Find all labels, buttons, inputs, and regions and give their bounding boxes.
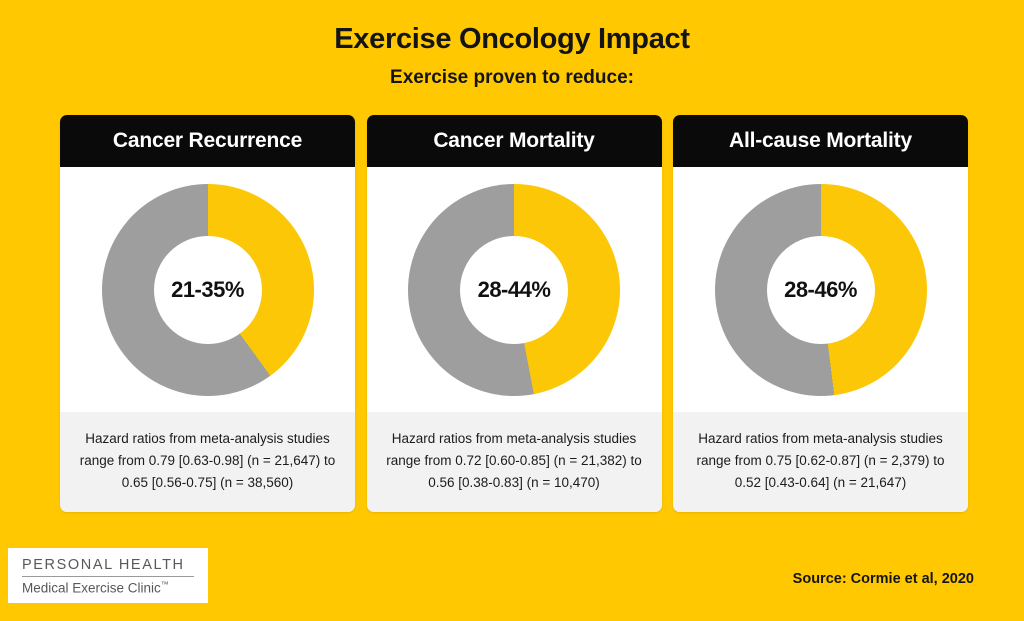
card-chart-area-cancer-recurrence: 21-35%	[60, 167, 355, 412]
metric-card-cancer-mortality: Cancer Mortality 28-44% Hazard ratios fr…	[367, 115, 662, 512]
card-footnote-all-cause-mortality: Hazard ratios from meta-analysis studies…	[673, 412, 968, 512]
metric-cards-row: Cancer Recurrence 21-35% Hazard ratios f…	[60, 115, 968, 512]
card-chart-area-cancer-mortality: 28-44%	[367, 167, 662, 412]
card-title-cancer-mortality: Cancer Mortality	[367, 115, 662, 167]
logo-secondary-text: Medical Exercise Clinic™	[22, 577, 194, 596]
card-footnote-cancer-recurrence: Hazard ratios from meta-analysis studies…	[60, 412, 355, 512]
donut-value-label: 28-46%	[784, 277, 857, 303]
donut-center-cancer-mortality: 28-44%	[460, 236, 568, 344]
card-footnote-cancer-mortality: Hazard ratios from meta-analysis studies…	[367, 412, 662, 512]
brand-logo: PERSONAL HEALTH Medical Exercise Clinic™	[8, 548, 208, 604]
donut-chart-cancer-recurrence: 21-35%	[102, 184, 314, 396]
donut-value-label: 21-35%	[171, 277, 244, 303]
donut-center-cancer-recurrence: 21-35%	[154, 236, 262, 344]
metric-card-cancer-recurrence: Cancer Recurrence 21-35% Hazard ratios f…	[60, 115, 355, 512]
page-title: Exercise Oncology Impact	[0, 22, 1024, 57]
donut-chart-cancer-mortality: 28-44%	[408, 184, 620, 396]
page-subtitle: Exercise proven to reduce:	[0, 67, 1024, 90]
card-chart-area-all-cause-mortality: 28-46%	[673, 167, 968, 412]
logo-primary-text: PERSONAL HEALTH	[22, 557, 194, 577]
card-title-cancer-recurrence: Cancer Recurrence	[60, 115, 355, 167]
trademark-icon: ™	[161, 580, 169, 589]
donut-center-all-cause-mortality: 28-46%	[767, 236, 875, 344]
metric-card-all-cause-mortality: All-cause Mortality 28-46% Hazard ratios…	[673, 115, 968, 512]
donut-value-label: 28-44%	[478, 277, 551, 303]
card-title-all-cause-mortality: All-cause Mortality	[673, 115, 968, 167]
page-header: Exercise Oncology Impact Exercise proven…	[0, 0, 1024, 90]
logo-secondary-label: Medical Exercise Clinic	[22, 580, 161, 595]
source-citation: Source: Cormie et al, 2020	[793, 571, 974, 587]
donut-chart-all-cause-mortality: 28-46%	[715, 184, 927, 396]
